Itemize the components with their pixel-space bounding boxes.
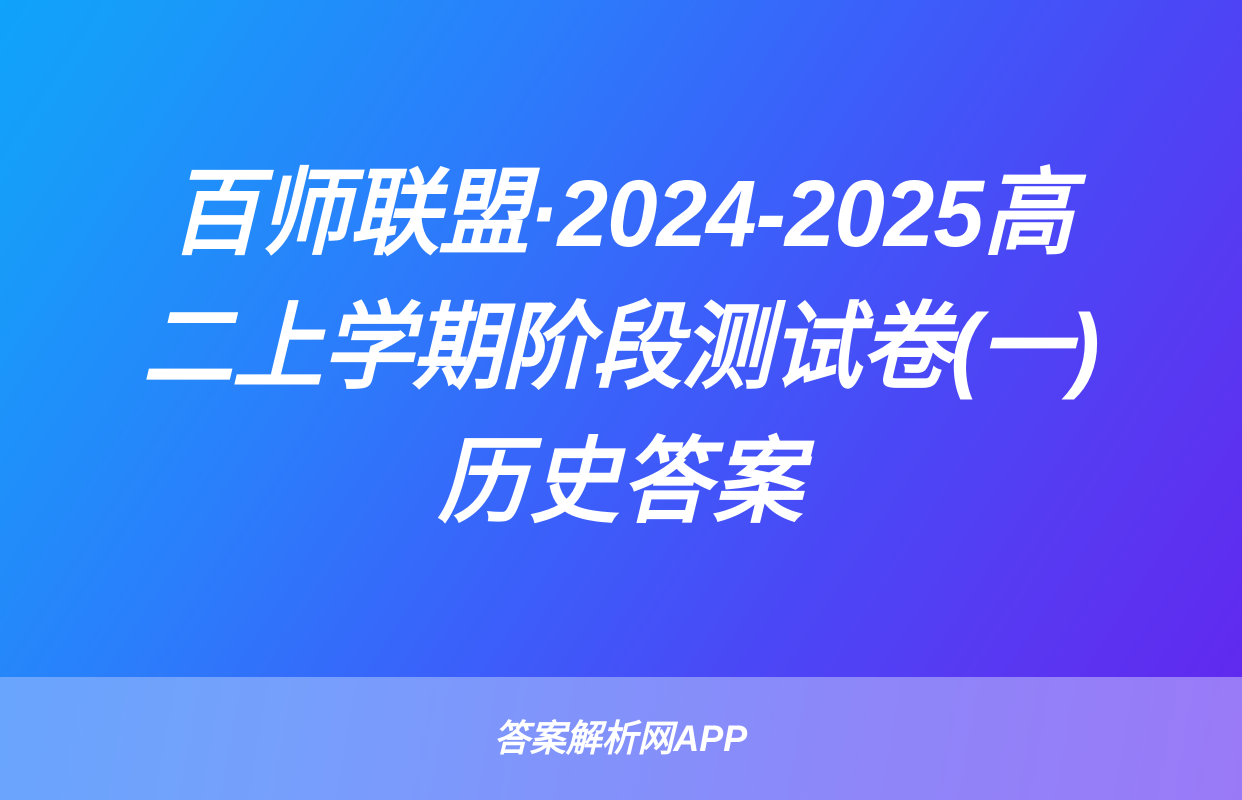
title-line-2: 二上学期阶段测试卷(一) (143, 281, 1099, 415)
footer-band: 答案解析网APP (0, 677, 1242, 800)
poster-canvas: 百师联盟·2024-2025高 二上学期阶段测试卷(一) 历史答案 答案解析网A… (0, 0, 1242, 800)
app-watermark-label: 答案解析网APP (494, 717, 747, 761)
title-line-3: 历史答案 (438, 415, 805, 549)
poster-title-block: 百师联盟·2024-2025高 二上学期阶段测试卷(一) 历史答案 (0, 0, 1242, 677)
title-line-1: 百师联盟·2024-2025高 (169, 147, 1072, 281)
